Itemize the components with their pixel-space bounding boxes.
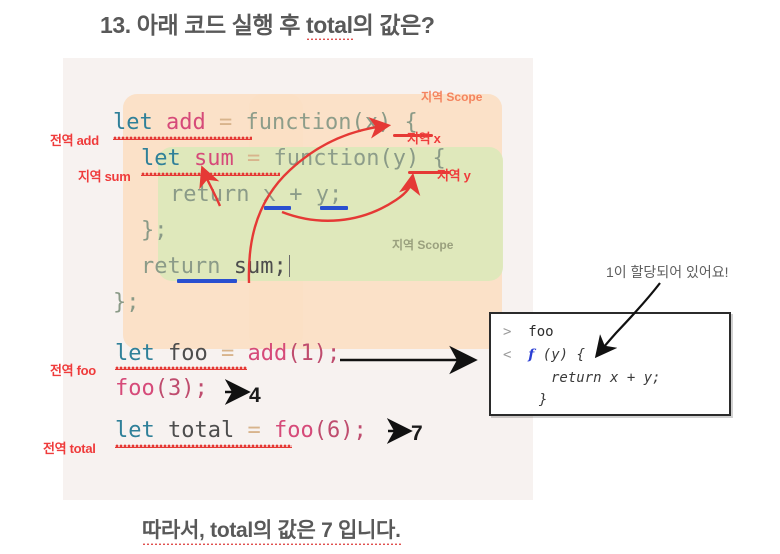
code-line-6: }; [113,290,140,315]
code-line-2: let sum = function(y) { [141,146,446,171]
code-line-9: let total = foo(6); [115,418,367,443]
underline-y-blue [320,206,348,210]
token-foo: foo [168,341,208,366]
token-let: let [113,110,153,135]
token-param-y: (y) [379,146,419,171]
console-function-body: return x + y; [551,370,661,386]
token-sum-return: sum; [234,254,287,279]
token-plus: + [289,182,302,207]
code-line-5: return sum; [141,254,290,279]
label-global-add: 전역 add [50,130,99,149]
slide-canvas: 13. 아래 코드 실행 후 total의 값은? let add = func… [0,0,780,554]
console-input-value: foo [528,324,553,340]
underline-x-blue [264,206,291,210]
callout-text: 1이 할당되어 있어요! [606,262,729,282]
underline-total [115,444,292,448]
token-return: return [170,182,249,207]
token-add: add [166,110,206,135]
token-close-inner: }; [141,218,168,243]
console-function-signature: (y) { [543,347,585,363]
label-global-foo: 전역 foo [50,360,96,379]
underline-sum-blue [177,279,237,283]
token-foo-call-2: foo [274,418,314,443]
result-foo3: 4 [249,384,261,408]
console-panel: > foo < f (y) { return x + y; } [489,312,731,416]
token-close-outer: }; [113,290,140,315]
caption-prefix: 따라서, [142,519,210,542]
token-total: total [168,418,234,443]
code-line-8: foo(3); [115,376,208,401]
code-line-7: let foo = add(1); [115,341,340,366]
token-y: y; [316,182,343,207]
token-equals: = [219,110,232,135]
token-let-4: let [115,418,155,443]
title-prefix: 13. 아래 코드 실행 후 [100,12,306,38]
token-equals-2: = [247,146,260,171]
token-add-call: add [248,341,288,366]
caption-spellcheck-word: total [210,519,253,542]
page-title: 13. 아래 코드 실행 후 total의 값은? [100,6,435,40]
token-function-2: function [274,146,380,171]
text-caret [289,255,290,277]
console-output-line: < f (y) { [503,347,585,363]
label-scope-inner: 지역 Scope [392,236,453,253]
title-suffix: 의 값은? [353,12,435,38]
conclusion-text: 따라서, total의 값은 7 입니다. [142,514,401,544]
result-total: 7 [411,422,423,446]
underline-sum [141,172,280,176]
underline-add [113,136,252,140]
token-foo-call: foo [115,376,155,401]
underline-foo [115,366,247,370]
token-sum: sum [194,146,234,171]
code-line-1: let add = function(x) { [113,110,418,135]
title-spellcheck-word: total [306,12,353,39]
label-scope-outer: 지역 Scope [421,88,482,105]
token-param-x: (x) [351,110,391,135]
console-input-line: > foo [503,324,554,340]
token-let-3: let [115,341,155,366]
label-local-y: 지역 y [437,165,471,184]
token-arg-3: (3); [155,376,208,401]
token-equals-3: = [221,341,234,366]
token-return-2: return [141,254,220,279]
code-block: let add = function(x) { let sum = functi… [63,58,533,500]
token-arg-6: (6); [314,418,367,443]
code-line-3: return x + y; [170,182,342,207]
label-local-sum: 지역 sum [78,166,130,185]
caption-suffix: 의 값은 7 입니다. [253,519,401,542]
label-global-total: 전역 total [43,438,96,457]
console-function-close: } [539,392,547,408]
code-panel: let add = function(x) { let sum = functi… [63,58,533,500]
token-equals-4: = [247,418,260,443]
token-function: function [246,110,352,135]
code-line-4: }; [141,218,168,243]
token-arg-1: (1); [287,341,340,366]
token-x: x [263,182,276,207]
label-local-x: 지역 x [407,128,441,147]
token-let-2: let [141,146,181,171]
